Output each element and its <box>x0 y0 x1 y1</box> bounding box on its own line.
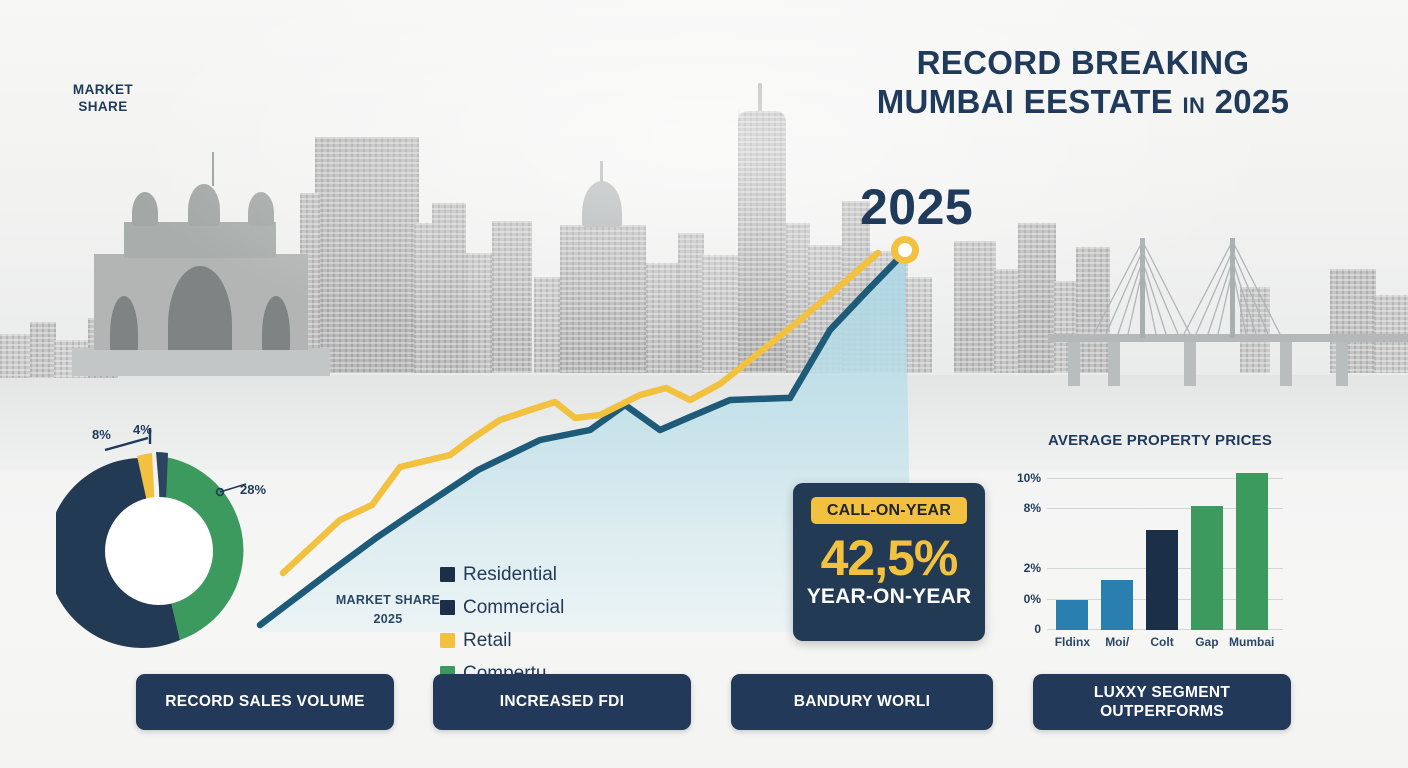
legend-column-left: Residential Commercial Retail <box>440 558 580 657</box>
donut-center-line-1: MARKET <box>0 82 206 99</box>
legend-swatch-commercial <box>440 600 455 615</box>
bar-label-4: Mumbai <box>1229 635 1274 649</box>
headline-line-2: MUMBAI EESTATE IN 2025 <box>868 83 1298 122</box>
endpoint-marker-inner <box>898 243 912 257</box>
market-share-caption: MARKET SHARE 2025 <box>328 591 448 629</box>
ytick-label-4: 10% <box>1017 471 1041 485</box>
bar-label-0: Fldinx <box>1055 635 1090 649</box>
legend-item-residential[interactable]: Residential <box>440 558 580 591</box>
bar-chart-plot-area: 0 0% 2% 8% 10% Fldinx Moi/ Colt <box>1047 456 1283 630</box>
market-share-caption-line-2: 2025 <box>328 610 448 629</box>
donut-label-28-percent: 28% <box>240 482 266 497</box>
donut-center-line-2: SHARE <box>0 99 206 116</box>
legend-item-retail[interactable]: Retail <box>440 624 580 657</box>
growth-callout-card: CALL-ON-YEAR 42,5% YEAR-ON-YEAR <box>793 483 985 641</box>
bar-2[interactable]: Colt <box>1146 530 1178 630</box>
pill-bandury-worli[interactable]: BANDURY WORLI <box>731 674 993 730</box>
ytick-label-2: 2% <box>1024 561 1041 575</box>
headline-line-1: RECORD BREAKING <box>868 44 1298 83</box>
legend-label-residential: Residential <box>463 564 557 586</box>
bar-label-2: Colt <box>1150 635 1173 649</box>
infographic-canvas: RECORD BREAKING MUMBAI EESTATE IN 2025 2… <box>0 0 1408 768</box>
bar-3[interactable]: Gap <box>1191 506 1223 630</box>
bar-label-1: Moi/ <box>1105 635 1129 649</box>
page-title: RECORD BREAKING MUMBAI EESTATE IN 2025 <box>868 44 1298 121</box>
callout-value: 42,5% <box>793 532 985 585</box>
ytick-label-3: 8% <box>1024 501 1041 515</box>
bar-4[interactable]: Mumbai <box>1236 473 1268 630</box>
donut-label-8-percent: 8% <box>92 427 111 442</box>
donut-hole <box>105 497 213 605</box>
legend-swatch-residential <box>440 567 455 582</box>
headline-line-2-year: 2025 <box>1215 83 1290 120</box>
market-share-caption-line-1: MARKET SHARE <box>328 591 448 610</box>
ytick-label-1: 0% <box>1024 592 1041 606</box>
donut-label-4-percent: 4% <box>133 422 152 437</box>
bar-1[interactable]: Moi/ <box>1101 580 1133 630</box>
pill-increased-fdi[interactable]: INCREASED FDI <box>433 674 691 730</box>
ytick-label-0: 0 <box>1034 622 1041 636</box>
pill-record-sales-volume[interactable]: RECORD SALES VOLUME <box>136 674 394 730</box>
callout-caption: YEAR-ON-YEAR <box>793 585 985 609</box>
headline-line-2-in: IN <box>1183 93 1206 118</box>
callout-badge: CALL-ON-YEAR <box>811 497 967 524</box>
donut-center-label: MARKET SHARE <box>0 82 206 116</box>
year-marker-label: 2025 <box>860 178 973 236</box>
average-property-prices-chart: AVERAGE PROPERTY PRICES 0 0% 2% 8% 10% F… <box>1003 432 1293 660</box>
legend-item-commercial[interactable]: Commercial <box>440 591 580 624</box>
bar-label-3: Gap <box>1195 635 1218 649</box>
bar-0[interactable]: Fldinx <box>1056 600 1088 630</box>
pill-luxxy-segment-outperforms[interactable]: LUXXY SEGMENT OUTPERFORMS <box>1033 674 1291 730</box>
headline-line-2-main: MUMBAI EESTATE <box>877 83 1173 120</box>
donut-leader-lines <box>80 420 310 510</box>
bar-chart-title: AVERAGE PROPERTY PRICES <box>1027 432 1293 449</box>
legend-label-retail: Retail <box>463 630 512 652</box>
legend-label-commercial: Commercial <box>463 597 564 619</box>
legend-swatch-retail <box>440 633 455 648</box>
highlight-pill-row: RECORD SALES VOLUME INCREASED FDI BANDUR… <box>0 674 1408 736</box>
